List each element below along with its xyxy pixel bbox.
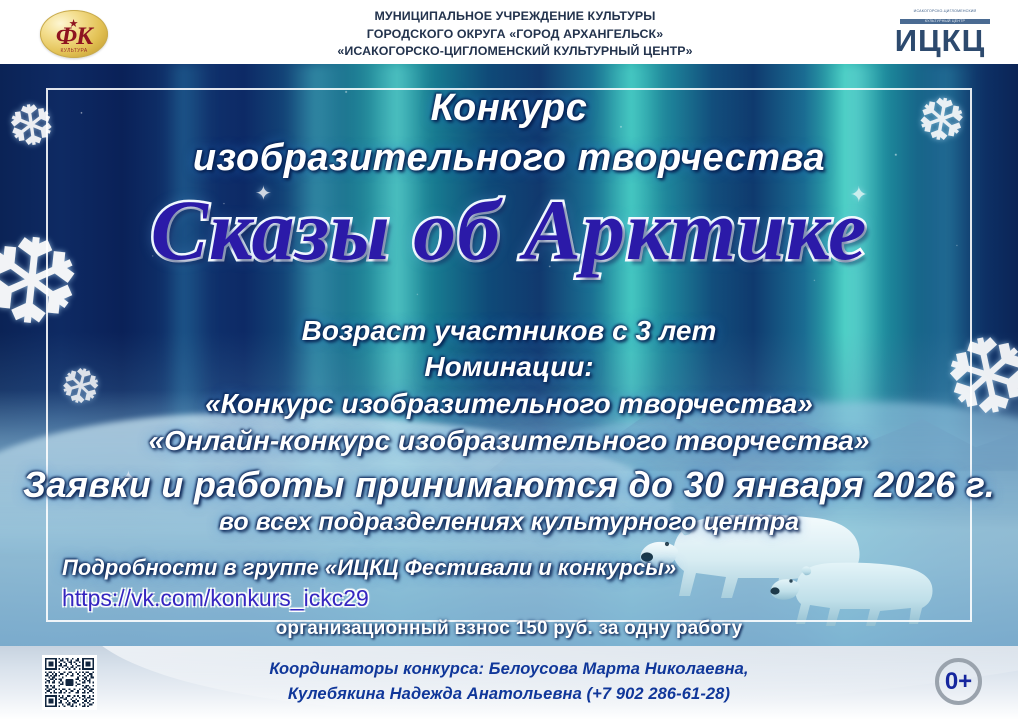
coordinators-line-2: Кулебякина Надежда Анатольевна (+7 902 2… (0, 682, 1018, 707)
org-line-3: «ИСАКОГОРСКО-ЦИГЛОМЕНСКИЙ КУЛЬТУРНЫЙ ЦЕН… (255, 43, 775, 61)
fk-logo-letters: ФК (40, 23, 108, 51)
age-requirement-text: Возраст участников с 3 лет (0, 313, 1018, 349)
details-group-text: Подробности в группе «ИЦКЦ Фестивали и к… (0, 553, 1018, 583)
poster-page: ★ ФК КУЛЬТУРА МУНИЦИПАЛЬНОЕ УЧРЕЖДЕНИЕ К… (0, 0, 1018, 720)
org-line-2: ГОРОДСКОГО ОКРУГА «ГОРОД АРХАНГЕЛЬСК» (255, 26, 775, 44)
deadline-text: Заявки и работы принимаются до 30 января… (0, 463, 1018, 507)
nominations-label: Номинации: (0, 349, 1018, 385)
organization-title: МУНИЦИПАЛЬНОЕ УЧРЕЖДЕНИЕ КУЛЬТУРЫ ГОРОДС… (255, 8, 775, 61)
header-band: ★ ФК КУЛЬТУРА МУНИЦИПАЛЬНОЕ УЧРЕЖДЕНИЕ К… (0, 0, 1018, 64)
nomination-item-1: «Конкурс изобразительного творчества» (0, 386, 1018, 422)
entry-fee-text: организационный взнос 150 руб. за одну р… (0, 616, 1018, 642)
footer-band: Координаторы конкурса: Белоусова Марта Н… (0, 646, 1018, 720)
deadline-location-text: во всех подразделениях культурного центр… (0, 506, 1018, 538)
coordinators-line-1: Координаторы конкурса: Белоусова Марта Н… (0, 657, 1018, 682)
poster-artwork: ❆ ❆ ❆ ❆ ❆ ✦ ✦ ✦ ✦ Конкурс изобразительно… (0, 64, 1018, 646)
nomination-item-2: «Онлайн-конкурс изобразительного творчес… (0, 423, 1018, 459)
ickc-logo-acronym: ИЦКЦ (888, 24, 992, 57)
fk-emblem-logo: ★ ФК КУЛЬТУРА (40, 10, 108, 58)
org-line-1: МУНИЦИПАЛЬНОЕ УЧРЕЖДЕНИЕ КУЛЬТУРЫ (255, 8, 775, 26)
vk-group-link[interactable]: https://vk.com/konkurs_ickc29 (0, 583, 1018, 614)
ickc-logo-top-line: ИСАКОГОРСКО-ЦИГЛОМЕНСКИЙ (900, 9, 990, 14)
ickc-logo: ИСАКОГОРСКО-ЦИГЛОМЕНСКИЙ КУЛЬТУРНЫЙ ЦЕНТ… (888, 8, 992, 58)
poster-main-title: Сказы об Арктике (0, 182, 1018, 278)
age-rating-badge: 0+ (935, 658, 982, 705)
fk-logo-subtext: КУЛЬТУРА (40, 48, 108, 54)
poster-subtitle-line-1: Конкурс (0, 86, 1018, 130)
coordinators-text: Координаторы конкурса: Белоусова Марта Н… (0, 657, 1018, 707)
poster-subtitle-line-2: изобразительного творчества (0, 136, 1018, 180)
